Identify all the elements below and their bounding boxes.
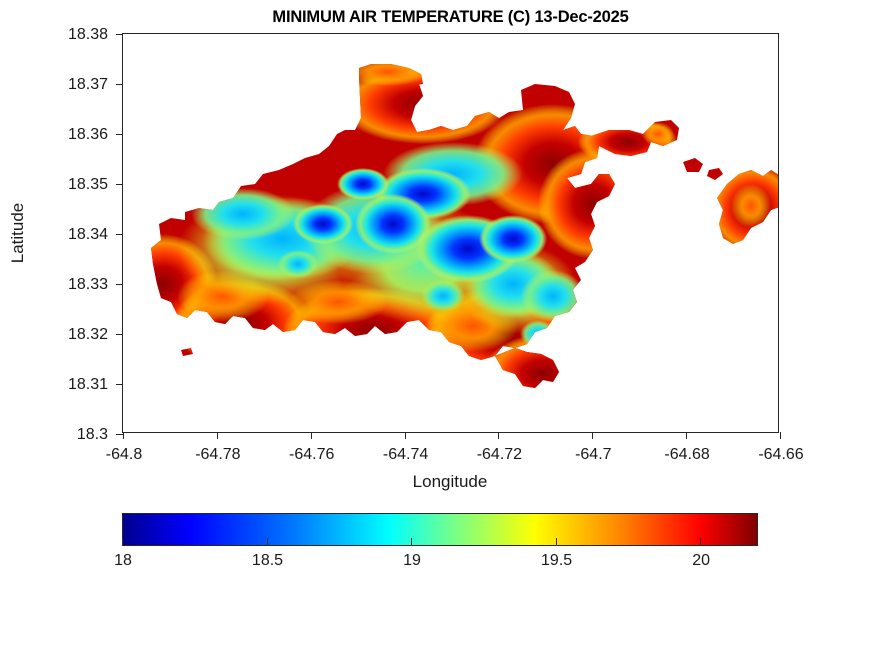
x-tick-4: -64.72 — [498, 432, 499, 439]
y-tick-label-6: 18.36 — [68, 126, 108, 144]
y-axis-label: Latitude — [8, 203, 28, 264]
colorbar-tick-label-2: 19 — [403, 552, 421, 570]
y-tick-label-4: 18.34 — [68, 226, 108, 244]
y-tick-label-2: 18.32 — [68, 326, 108, 344]
y-tick-label-8: 18.38 — [68, 26, 108, 44]
colorbar-tick-1: 18.5 — [267, 538, 268, 546]
y-tick-2: 18.32 — [116, 334, 123, 335]
x-tick-label-1: -64.78 — [195, 446, 240, 464]
y-tick-label-0: 18.3 — [77, 426, 108, 444]
y-tick-6: 18.36 — [116, 134, 123, 135]
y-tick-7: 18.37 — [116, 84, 123, 85]
figure-canvas: MINIMUM AIR TEMPERATURE (C) 13-Dec-2025 — [0, 0, 875, 656]
colorbar-tick-label-1: 18.5 — [252, 552, 283, 570]
y-tick-0: 18.3 — [116, 434, 123, 435]
colorbar-tick-label-0: 18 — [114, 552, 132, 570]
x-tick-label-4: -64.72 — [477, 446, 522, 464]
x-tick-2: -64.76 — [311, 432, 312, 439]
temperature-raster-image — [123, 34, 778, 432]
y-tick-3: 18.33 — [116, 284, 123, 285]
y-tick-label-5: 18.35 — [68, 176, 108, 194]
raster-cells-group — [123, 34, 778, 432]
colorbar-tick-label-3: 19.5 — [541, 552, 572, 570]
colorbar: 18 18.5 19 19.5 20 — [122, 513, 758, 546]
x-tick-5: -64.7 — [592, 432, 593, 439]
x-tick-label-0: -64.8 — [106, 446, 142, 464]
colorbar-tick-3: 19.5 — [556, 538, 557, 546]
colorbar-gradient — [122, 513, 758, 546]
y-tick-label-1: 18.31 — [68, 376, 108, 394]
x-axis-label: Longitude — [413, 472, 488, 492]
x-tick-label-3: -64.74 — [383, 446, 428, 464]
colorbar-tick-4: 20 — [700, 538, 701, 546]
y-tick-1: 18.31 — [116, 384, 123, 385]
colorbar-tick-label-4: 20 — [692, 552, 710, 570]
y-tick-label-3: 18.33 — [68, 276, 108, 294]
colorbar-tick-2: 19 — [411, 538, 412, 546]
y-tick-label-7: 18.37 — [68, 76, 108, 94]
x-tick-3: -64.74 — [405, 432, 406, 439]
y-tick-4: 18.34 — [116, 234, 123, 235]
raster-map-clip — [123, 34, 778, 432]
x-tick-label-2: -64.76 — [289, 446, 334, 464]
x-tick-0: -64.8 — [123, 432, 124, 439]
plot-axes: 18.3 18.31 18.32 18.33 18.34 18.35 18.36… — [122, 33, 779, 433]
x-tick-7: -64.66 — [780, 432, 781, 439]
y-tick-8: 18.38 — [116, 34, 123, 35]
x-tick-1: -64.78 — [217, 432, 218, 439]
x-tick-6: -64.68 — [686, 432, 687, 439]
colorbar-tick-0: 18 — [122, 538, 123, 546]
x-tick-label-6: -64.68 — [664, 446, 709, 464]
x-tick-label-7: -64.66 — [758, 446, 803, 464]
y-tick-5: 18.35 — [116, 184, 123, 185]
x-tick-label-5: -64.7 — [575, 446, 611, 464]
chart-title: MINIMUM AIR TEMPERATURE (C) 13-Dec-2025 — [122, 8, 779, 27]
